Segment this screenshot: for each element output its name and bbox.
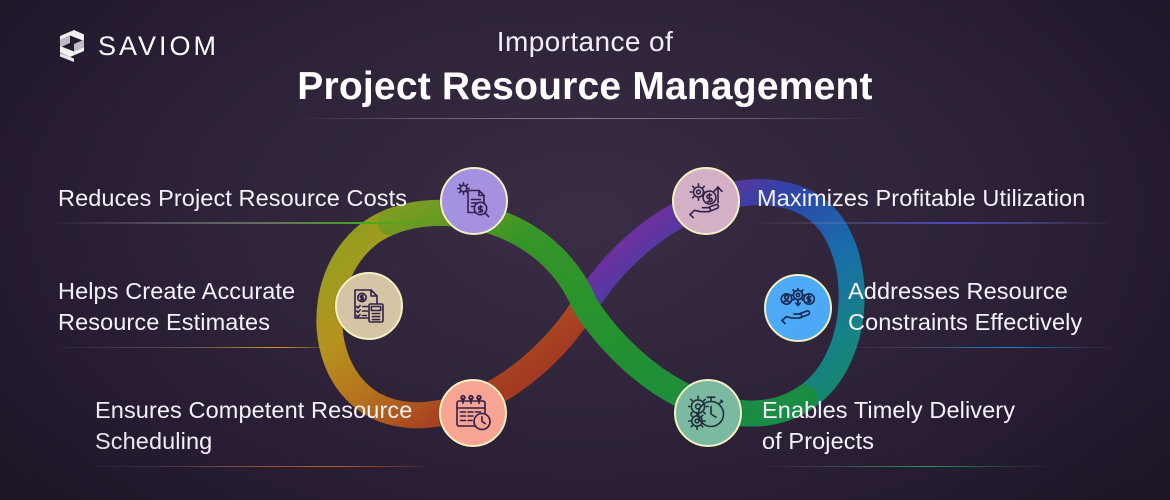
benefit-label-reduces-costs: Reduces Project Resource Costs	[58, 183, 426, 224]
heading-title: Project Resource Management	[0, 61, 1170, 114]
hand-person-gear-dollar-icon	[778, 288, 818, 328]
benefit-icon-profitable-utilization[interactable]	[672, 167, 740, 235]
benefit-label-profitable-utilization: Maximizes Profitable Utilization	[757, 183, 1109, 224]
benefit-label-resource-constraints: Addresses Resource Constraints Effective…	[848, 276, 1110, 348]
hand-gear-dollar-arrow-icon	[686, 181, 726, 221]
invoice-calculator-icon	[349, 286, 389, 326]
benefit-icon-reduces-costs[interactable]	[440, 167, 508, 235]
page-title: Importance of Project Resource Managemen…	[0, 24, 1170, 114]
benefit-rule-reduces-costs	[58, 222, 426, 224]
benefit-text-timely-delivery: Enables Timely Delivery of Projects	[762, 395, 1050, 458]
benefit-label-timely-delivery: Enables Timely Delivery of Projects	[762, 395, 1050, 467]
benefit-text-resource-constraints: Addresses Resource Constraints Effective…	[848, 276, 1110, 339]
document-magnifier-dollar-icon	[454, 181, 494, 221]
benefit-icon-accurate-estimates[interactable]	[335, 272, 403, 340]
benefit-icon-resource-constraints[interactable]	[764, 274, 832, 342]
benefit-rule-timely-delivery	[762, 466, 1050, 468]
benefit-rule-competent-scheduling	[95, 466, 425, 468]
benefit-rule-resource-constraints	[848, 347, 1110, 349]
benefit-icon-competent-scheduling[interactable]	[439, 379, 507, 447]
benefit-text-reduces-costs: Reduces Project Resource Costs	[58, 183, 426, 214]
benefit-label-accurate-estimates: Helps Create Accurate Resource Estimates	[58, 276, 326, 348]
benefit-label-competent-scheduling: Ensures Competent Resource Scheduling	[95, 395, 425, 467]
loop-crossover-band	[390, 213, 805, 414]
benefit-rule-accurate-estimates	[58, 347, 326, 349]
benefit-icon-timely-delivery[interactable]	[674, 379, 742, 447]
heading-kicker: Importance of	[0, 24, 1170, 59]
benefit-text-competent-scheduling: Ensures Competent Resource Scheduling	[95, 395, 425, 458]
benefit-text-profitable-utilization: Maximizes Profitable Utilization	[757, 183, 1109, 214]
heading-divider	[293, 118, 877, 119]
benefit-rule-profitable-utilization	[757, 222, 1109, 224]
benefit-text-accurate-estimates: Helps Create Accurate Resource Estimates	[58, 276, 326, 339]
stopwatch-gears-icon	[688, 393, 728, 433]
calendar-clock-icon	[453, 393, 493, 433]
infographic-canvas: SAVIOM Importance of Project Resource Ma…	[0, 0, 1170, 500]
